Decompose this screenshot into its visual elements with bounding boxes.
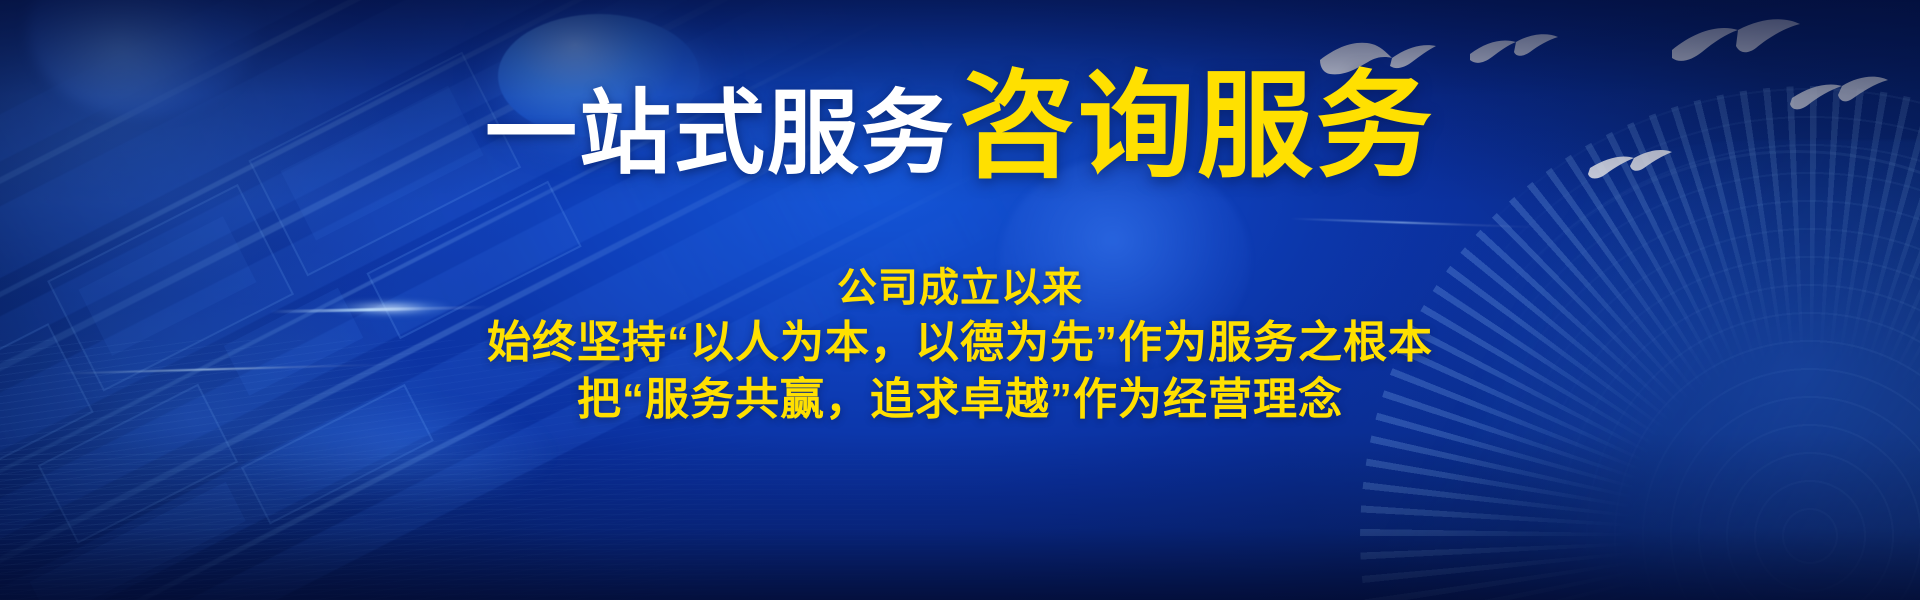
subtext-line-3: 把“服务共赢，追求卓越”作为经营理念	[0, 371, 1920, 428]
subtext-line-1: 公司成立以来	[0, 262, 1920, 314]
headline: 一站式服务 咨询服务	[0, 68, 1920, 184]
subtext-line-2: 始终坚持“以人为本，以德为先”作为服务之根本	[0, 314, 1920, 371]
promotional-banner: 一站式服务 咨询服务 公司成立以来 始终坚持“以人为本，以德为先”作为服务之根本…	[0, 0, 1920, 600]
banner-content: 一站式服务 咨询服务 公司成立以来 始终坚持“以人为本，以德为先”作为服务之根本…	[0, 0, 1920, 600]
subtext-block: 公司成立以来 始终坚持“以人为本，以德为先”作为服务之根本 把“服务共赢，追求卓…	[0, 262, 1920, 428]
headline-accent-text: 咨询服务	[959, 68, 1435, 184]
headline-main-text: 一站式服务	[485, 88, 955, 184]
